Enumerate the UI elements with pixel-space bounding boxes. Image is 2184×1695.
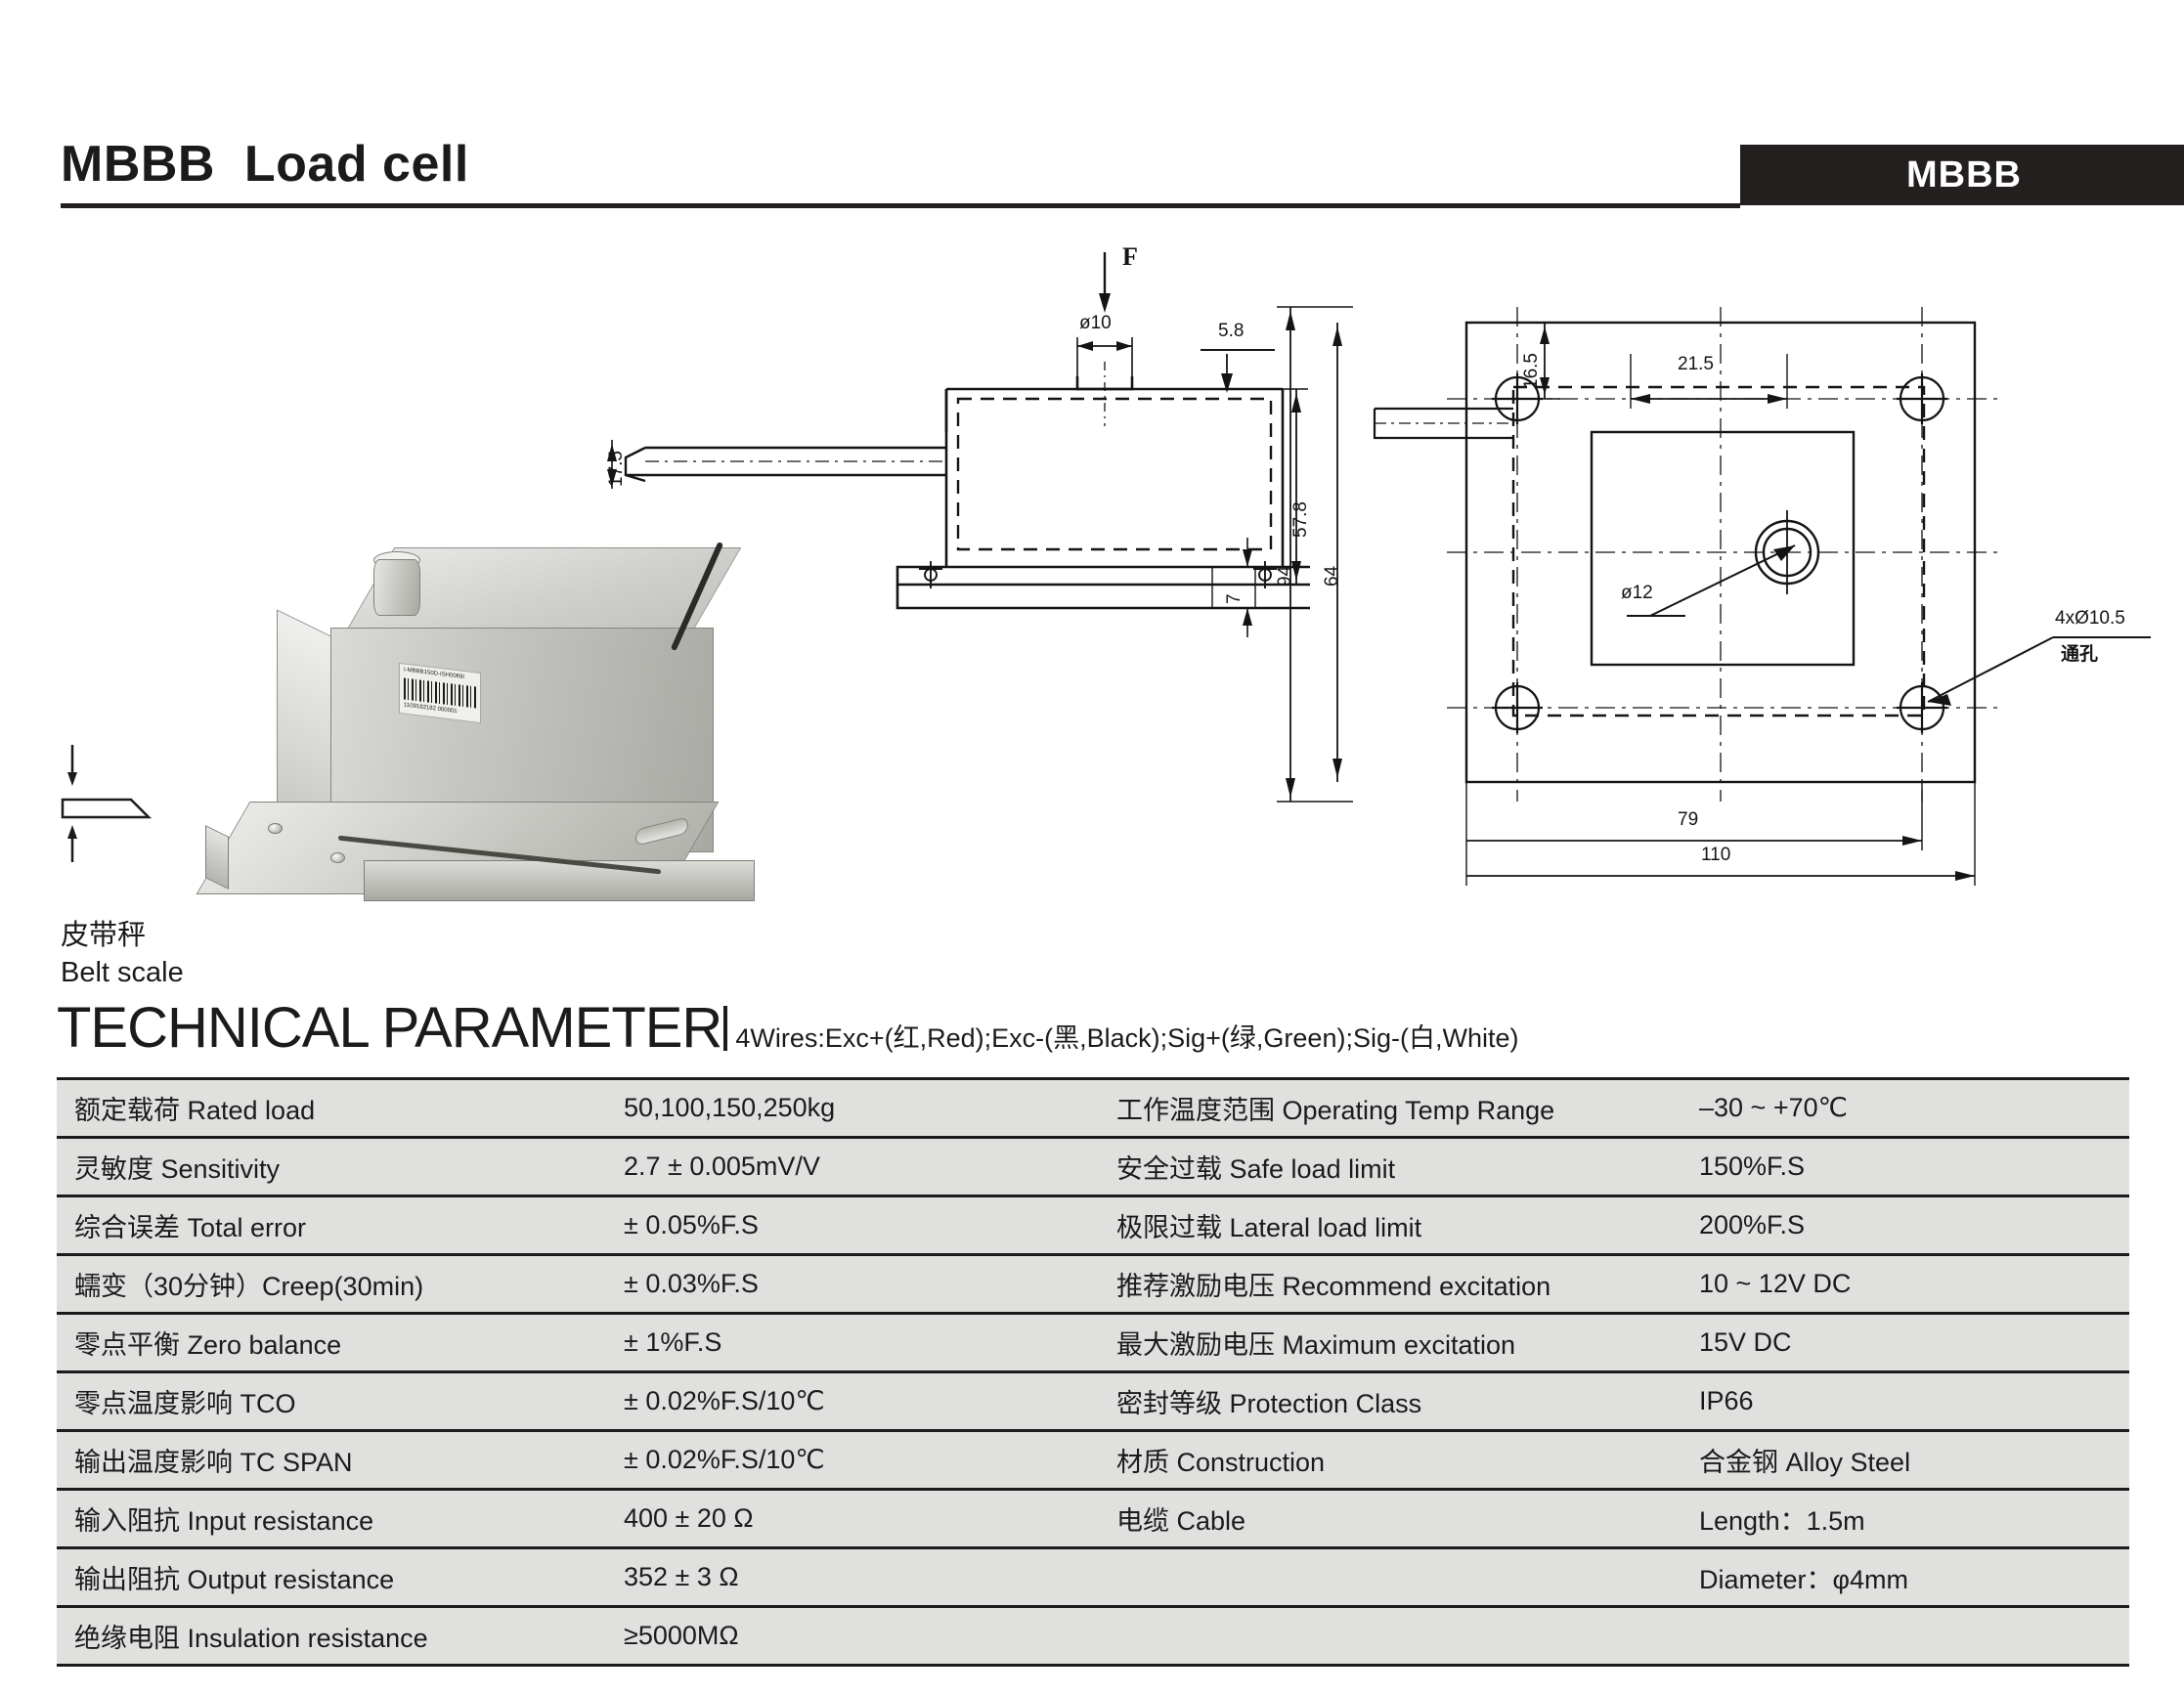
- technical-parameter-heading: TECHNICAL PARAMETER 4Wires:Exc+(红,Red);E…: [57, 995, 1518, 1061]
- header-rule: [61, 203, 1740, 208]
- plan-view-drawing: 94 64 16.5 21.5 ø12 79 110 4xØ10.5 通孔: [1369, 293, 2184, 899]
- spec-value-left: ± 0.02%F.S/10℃: [604, 1372, 1093, 1431]
- caption-en: Belt scale: [61, 954, 184, 991]
- spec-label-right: 工作温度范围 Operating Temp Range: [1093, 1080, 1680, 1138]
- spec-label-left: 灵敏度 Sensitivity: [57, 1138, 604, 1196]
- dim-cable-height: 17.5: [606, 451, 628, 487]
- spec-table: 额定载荷 Rated load 50,100,150,250kg 工作温度范围 …: [57, 1080, 2129, 1667]
- spec-value-left: 400 ± 20 Ω: [604, 1490, 1093, 1548]
- spec-value-left: 352 ± 3 Ω: [604, 1548, 1093, 1607]
- spec-label-left: 绝缘电阻 Insulation resistance: [57, 1607, 604, 1666]
- spec-value-right: [1680, 1607, 2129, 1666]
- table-row: 蠕变（30分钟）Creep(30min) ± 0.03%F.S 推荐激励电压 R…: [57, 1255, 2129, 1314]
- spec-value-right: –30 ~ +70℃: [1680, 1080, 2129, 1138]
- spec-label-left: 综合误差 Total error: [57, 1196, 604, 1255]
- dim-inner-width: 79: [1678, 809, 1698, 831]
- table-row: 灵敏度 Sensitivity 2.7 ± 0.005mV/V 安全过载 Saf…: [57, 1138, 2129, 1196]
- hole-note-line2: 通孔: [2061, 639, 2098, 666]
- table-row: 输入阻抗 Input resistance 400 ± 20 Ω 电缆 Cabl…: [57, 1490, 2129, 1548]
- force-label: F: [1122, 242, 1138, 272]
- wires-note: 4Wires:Exc+(红,Red);Exc-(黑,Black);Sig+(绿,…: [735, 1017, 1518, 1055]
- side-view-drawing: F ø10 5.8 17.5 57.8 7: [587, 244, 1310, 655]
- spec-label-right: 极限过载 Lateral load limit: [1093, 1196, 1680, 1255]
- hole-note-line1: 4xØ10.5: [2055, 608, 2125, 630]
- base-plate-left: [205, 825, 229, 890]
- spec-label-right: 电缆 Cable: [1093, 1490, 1680, 1548]
- mounting-orientation-icon: [59, 743, 186, 870]
- spec-value-left: 2.7 ± 0.005mV/V: [604, 1138, 1093, 1196]
- model-badge: MBBB: [1740, 145, 2184, 205]
- spec-label-right: 密封等级 Protection Class: [1093, 1372, 1680, 1431]
- spec-table-body: 额定载荷 Rated load 50,100,150,250kg 工作温度范围 …: [57, 1080, 2129, 1666]
- spec-label-right: 最大激励电压 Maximum excitation: [1093, 1314, 1680, 1372]
- spec-value-right: Length：1.5m: [1680, 1490, 2129, 1548]
- table-row: 绝缘电阻 Insulation resistance ≥5000MΩ: [57, 1607, 2129, 1666]
- spec-value-right: 200%F.S: [1680, 1196, 2129, 1255]
- spec-value-left: ± 1%F.S: [604, 1314, 1093, 1372]
- spec-label-left: 输入阻抗 Input resistance: [57, 1490, 604, 1548]
- table-row: 输出阻抗 Output resistance 352 ± 3 Ω Diamete…: [57, 1548, 2129, 1607]
- spec-value-left: ± 0.02%F.S/10℃: [604, 1431, 1093, 1490]
- spec-label-left: 额定载荷 Rated load: [57, 1080, 604, 1138]
- spec-value-right: 合金钢 Alloy Steel: [1680, 1431, 2129, 1490]
- figure-caption: 皮带秤 Belt scale: [61, 917, 184, 991]
- spec-label-right: 安全过载 Safe load limit: [1093, 1138, 1680, 1196]
- dim-center-hole: ø12: [1621, 583, 1653, 604]
- screw-2: [330, 852, 345, 863]
- dim-top-plate: 5.8: [1218, 321, 1244, 342]
- dim-offset: 16.5: [1521, 353, 1543, 389]
- dim-inner-height: 64: [1322, 566, 1343, 587]
- base-plate-front: [364, 860, 755, 901]
- dim-hole-offset: 21.5: [1678, 354, 1714, 375]
- spec-value-right: 10 ~ 12V DC: [1680, 1255, 2129, 1314]
- spec-label-right: 材质 Construction: [1093, 1431, 1680, 1490]
- spec-label-right: [1093, 1548, 1680, 1607]
- spec-value-left: ≥5000MΩ: [604, 1607, 1093, 1666]
- technical-parameter-title: TECHNICAL PARAMETER: [57, 995, 721, 1061]
- spec-label-left: 零点温度影响 TCO: [57, 1372, 604, 1431]
- spec-label-right: 推荐激励电压 Recommend excitation: [1093, 1255, 1680, 1314]
- datasheet-page: MBBB Load cell MBBB I-MBBB150D-ISH0069I …: [0, 0, 2184, 1695]
- spec-value-right: Diameter：φ4mm: [1680, 1548, 2129, 1607]
- table-row: 零点平衡 Zero balance ± 1%F.S 最大激励电压 Maximum…: [57, 1314, 2129, 1372]
- spec-value-left: ± 0.03%F.S: [604, 1255, 1093, 1314]
- dim-outer-height: 94: [1275, 566, 1296, 587]
- table-row: 额定载荷 Rated load 50,100,150,250kg 工作温度范围 …: [57, 1080, 2129, 1138]
- heading-divider-bar: [723, 1006, 727, 1051]
- page-title: MBBB Load cell: [61, 135, 469, 194]
- spec-value-right: IP66: [1680, 1372, 2129, 1431]
- spec-value-left: 50,100,150,250kg: [604, 1080, 1093, 1138]
- dim-base-thickness: 7: [1224, 593, 1245, 604]
- model-badge-label: MBBB: [1906, 154, 2022, 196]
- spec-label-left: 输出温度影响 TC SPAN: [57, 1431, 604, 1490]
- caption-cn: 皮带秤: [61, 917, 184, 954]
- barcode-label: I-MBBB150D-ISH0069I 1109182182 000001: [399, 663, 481, 723]
- spec-value-right: 150%F.S: [1680, 1138, 2129, 1196]
- spec-label-right: [1093, 1607, 1680, 1666]
- dim-pin-dia: ø10: [1079, 313, 1112, 334]
- table-row: 输出温度影响 TC SPAN ± 0.02%F.S/10℃ 材质 Constru…: [57, 1431, 2129, 1490]
- spec-label-left: 零点平衡 Zero balance: [57, 1314, 604, 1372]
- screw-1: [268, 823, 283, 834]
- spec-label-left: 蠕变（30分钟）Creep(30min): [57, 1255, 604, 1314]
- table-row: 零点温度影响 TCO ± 0.02%F.S/10℃ 密封等级 Protectio…: [57, 1372, 2129, 1431]
- dim-outer-width: 110: [1701, 845, 1730, 866]
- spec-value-right: 15V DC: [1680, 1314, 2129, 1372]
- load-pin: [373, 559, 420, 616]
- spec-value-left: ± 0.05%F.S: [604, 1196, 1093, 1255]
- table-row: 综合误差 Total error ± 0.05%F.S 极限过载 Lateral…: [57, 1196, 2129, 1255]
- spec-label-left: 输出阻抗 Output resistance: [57, 1548, 604, 1607]
